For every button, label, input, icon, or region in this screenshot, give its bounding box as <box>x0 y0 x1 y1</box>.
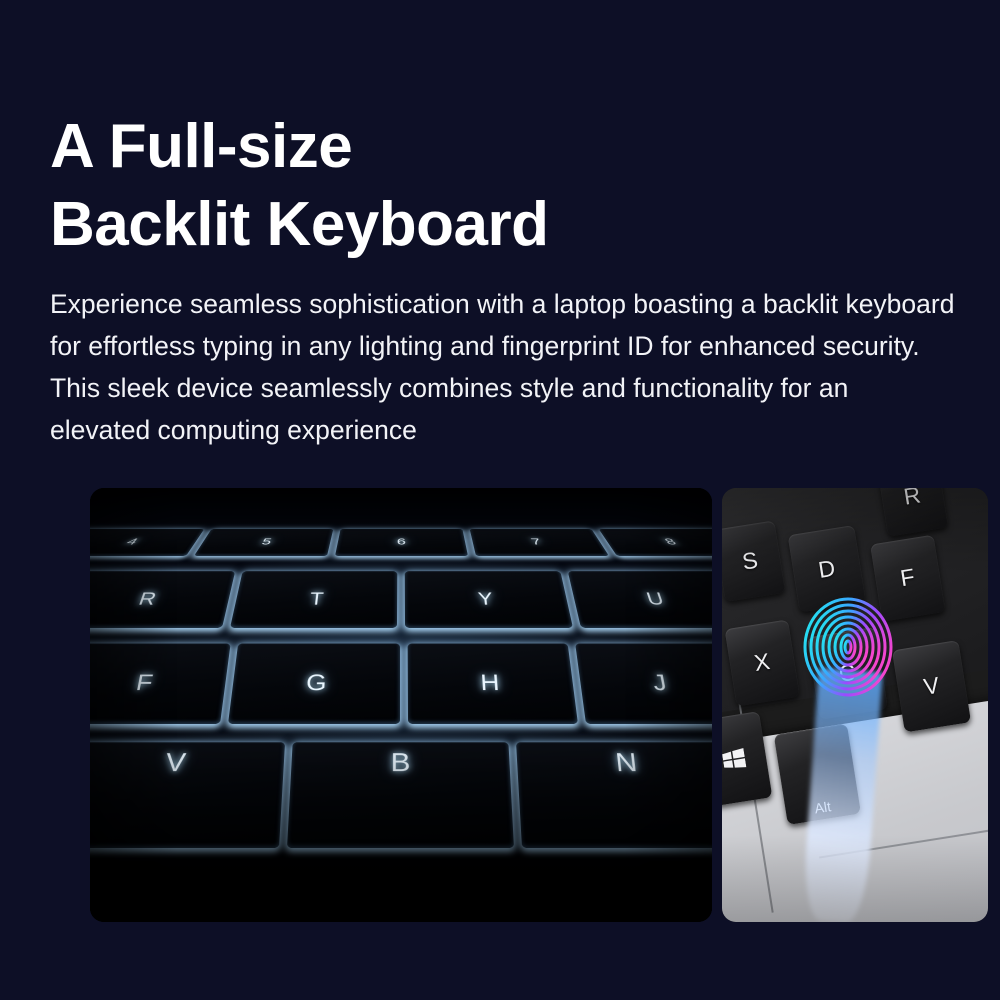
product-feature-page: A Full-size Backlit Keyboard Experience … <box>0 0 1000 1000</box>
key-u: U <box>567 571 712 628</box>
key-r: R <box>90 571 235 628</box>
key-t: T <box>230 571 397 628</box>
key-b: B <box>287 742 513 848</box>
key-8: 8 <box>598 529 712 556</box>
key-7: 7 <box>469 529 608 556</box>
keyboard-number-row: 4 5 6 7 8 <box>90 529 712 556</box>
keyboard-home-row: F G H J <box>90 643 712 724</box>
keyboard-scene: 4 5 6 7 8 R T Y U F G H J <box>90 488 712 922</box>
backlit-keyboard-image: 4 5 6 7 8 R T Y U F G H J <box>90 488 712 922</box>
keyboard-bottom-row: V B N <box>90 742 712 848</box>
keyboard-top-row: R T Y U <box>90 571 712 628</box>
media-gallery: 4 5 6 7 8 R T Y U F G H J <box>50 472 948 906</box>
key-g: G <box>228 643 400 724</box>
key-s: S <box>722 520 786 602</box>
key-f: F <box>90 643 230 724</box>
key-4: 4 <box>90 529 204 556</box>
key-x: X <box>724 619 799 706</box>
fingerprint-icon <box>802 597 894 699</box>
feature-description: Experience seamless sophistication with … <box>50 283 955 451</box>
key-5: 5 <box>194 529 333 556</box>
page-title: A Full-size Backlit Keyboard <box>50 108 950 264</box>
fingerprint-id-image: R S D F X C V Alt <box>722 488 988 922</box>
windows-logo-key <box>722 711 773 807</box>
key-v: V <box>90 742 285 848</box>
key-6: 6 <box>335 529 468 556</box>
key-v: V <box>892 640 971 732</box>
key-h: H <box>407 643 577 724</box>
key-y: Y <box>404 571 572 628</box>
page-title-line-2: Backlit Keyboard <box>50 186 950 264</box>
key-r: R <box>876 488 948 537</box>
page-title-line-1: A Full-size <box>50 108 950 186</box>
key-j: J <box>574 643 712 724</box>
key-n: N <box>515 742 712 848</box>
fingerprint-scene: R S D F X C V Alt <box>722 488 988 922</box>
